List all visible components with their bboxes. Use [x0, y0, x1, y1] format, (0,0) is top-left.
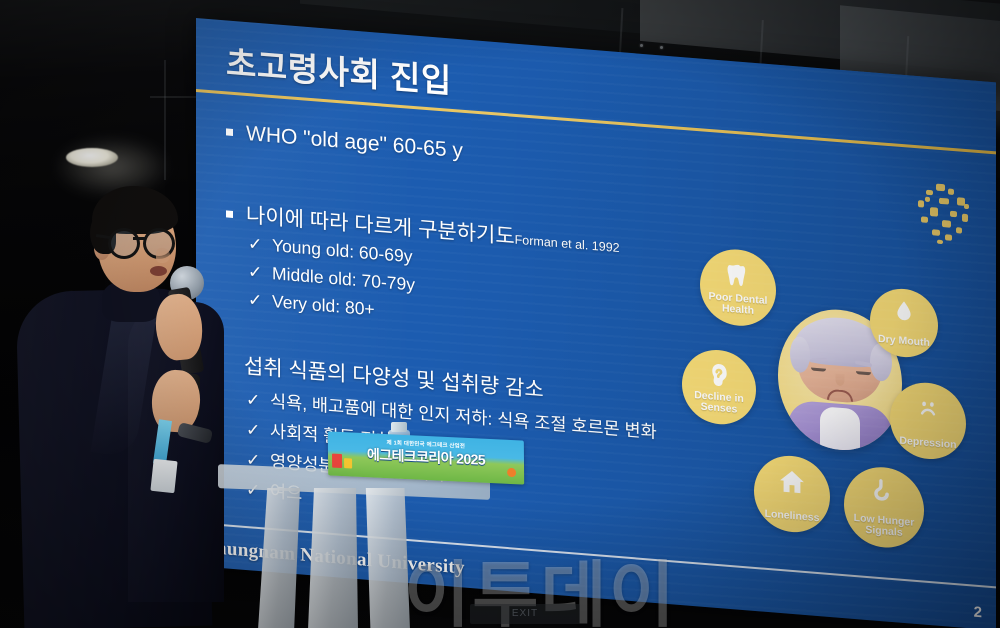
stomach-icon: [871, 477, 897, 505]
sub-bullet-text: Middle old: 70-79y: [272, 263, 415, 295]
info-node-label: Poor Dental Health: [700, 290, 776, 328]
water-drop-icon: [892, 298, 916, 324]
bullet-who-old-age: WHO "old age" 60-65 y: [226, 120, 463, 163]
info-node-depression[interactable]: Depression: [890, 380, 966, 462]
exit-sign: EXIT: [470, 604, 580, 624]
speaker-glasses-bridge: [133, 237, 145, 240]
banner-decor-shape: [344, 458, 352, 468]
info-node-label: Decline in Senses: [682, 389, 756, 427]
bullet-text: WHO "old age" 60-65 y: [246, 122, 463, 162]
slide-title: 초고령사회 진입: [226, 36, 452, 102]
speaker-glasses-left-lens: [108, 228, 140, 259]
sub-bullet-text: Very old: 80+: [272, 291, 375, 319]
water-bottle-cap: [391, 422, 407, 432]
podium-event-banner[interactable]: 제 1회 대한민국 에그테크 산업전 에그테크코리아 2025: [328, 431, 524, 484]
sad-face-icon: [915, 394, 941, 422]
podium-column-right: [364, 488, 410, 628]
lectern-podium: 제 1회 대한민국 에그테크 산업전 에그테크코리아 2025: [212, 452, 532, 628]
infographic-elderly-malnutrition: Poor Dental Health Dry Mouth: [694, 236, 984, 571]
banner-decor-shape: [332, 454, 342, 468]
info-node-low-hunger-signals[interactable]: Low Hunger Signals: [844, 464, 924, 550]
info-node-label: Depression: [895, 436, 960, 462]
ear-icon: [706, 361, 732, 389]
speaker-mouth: [150, 266, 167, 276]
house-icon: [778, 467, 806, 497]
speaker-nose: [156, 248, 170, 263]
decorative-dot-circle: [912, 180, 976, 249]
info-node-dry-mouth[interactable]: Dry Mouth: [870, 286, 938, 359]
info-node-loneliness[interactable]: Loneliness: [754, 453, 830, 535]
portrait-nose: [836, 373, 845, 386]
info-node-label: Low Hunger Signals: [844, 512, 924, 551]
citation-text: Forman et al. 1992: [515, 233, 620, 255]
sub-bullet-very-old: ✓Very old: 80+: [248, 289, 375, 320]
slide-page-number: 2: [974, 604, 982, 622]
exit-sign-label: EXIT: [470, 604, 580, 624]
info-node-decline-in-senses[interactable]: Decline in Senses: [682, 347, 756, 427]
podium-column-left: [258, 488, 300, 628]
photo-scene: 초고령사회 진입: [0, 0, 1000, 628]
info-node-label: Loneliness: [761, 509, 824, 535]
speaker-badge: [150, 459, 177, 493]
tooth-icon: [723, 261, 753, 293]
podium-column-center: [308, 488, 358, 628]
portrait-shirt: [820, 406, 860, 451]
info-node-poor-dental-health[interactable]: Poor Dental Health: [700, 247, 776, 329]
banner-decor-shape: [507, 468, 516, 477]
portrait-hair-left: [790, 336, 810, 374]
bullet-square-icon: [226, 128, 233, 136]
